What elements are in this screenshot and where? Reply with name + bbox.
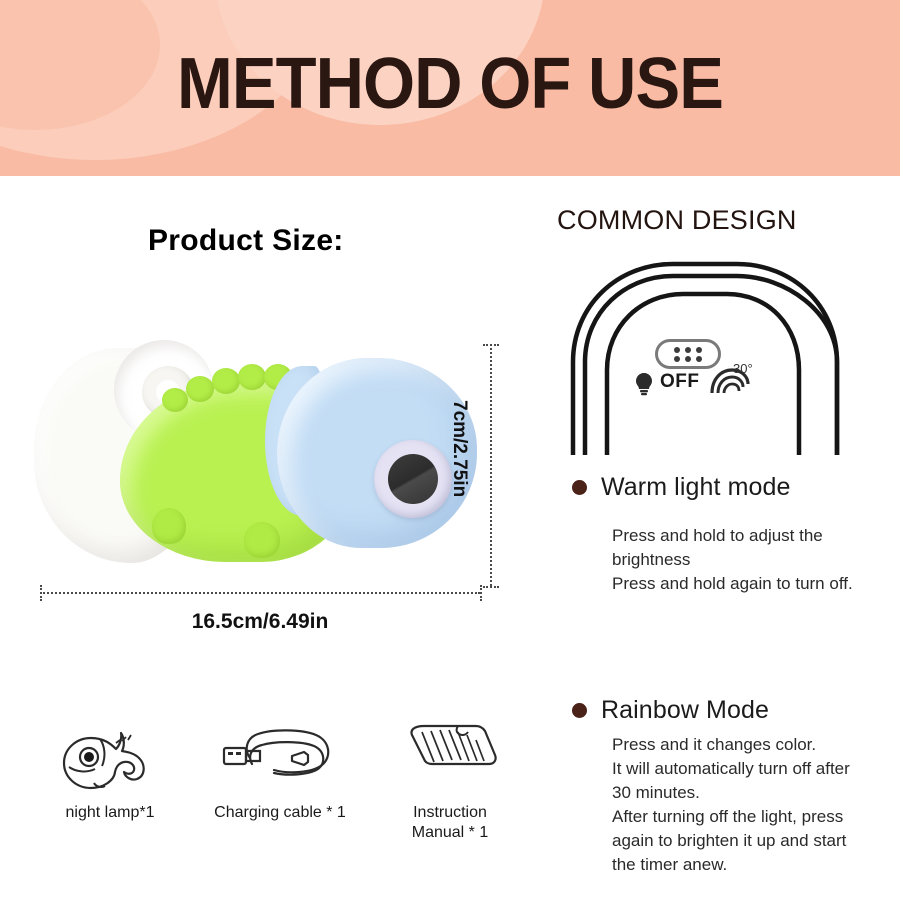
chameleon-spine-bump [238,364,266,390]
height-dimension-label: 7cm/2.75in [448,400,470,497]
common-design-heading: COMMON DESIGN [557,205,797,236]
manual-document-icon [398,715,502,795]
mode-rainbow: Rainbow Mode Press and it changes color.… [572,696,850,877]
page-header-banner: METHOD OF USE [0,0,900,176]
description-line: again to brighten it up and start [612,829,850,853]
mode-heading: Rainbow Mode [572,696,850,725]
description-line: Press and hold to adjust the [612,524,853,548]
button-dot-grid [674,347,702,362]
description-line: It will automatically turn off after [612,757,850,781]
height-guide-line [490,344,492,586]
accessory-item: Instruction Manual * 1 [365,715,535,843]
timer-degree-label: 30° [733,361,753,376]
width-guide-line [40,592,480,594]
description-line: After turning off the light, press [612,805,850,829]
chameleon-spine-bump [162,388,188,412]
chameleon-spine-bump [186,376,214,402]
mode-title: Warm light mode [601,473,791,502]
power-button[interactable] [655,339,721,369]
chameleon-lamp-icon [58,715,162,795]
description-line: Press and it changes color. [612,733,850,757]
bullet-dot-icon [572,480,587,495]
chameleon-spine-bump [212,368,240,394]
width-guide-cap-right [480,585,482,601]
mode-warm-light: Warm light mode Press and hold to adjust… [572,473,853,596]
off-label: OFF [660,371,700,393]
description-line: brightness [612,548,853,572]
accessory-item: night lamp*1 [25,715,195,823]
chameleon-foot [152,508,186,544]
bullet-dot-icon [572,703,587,718]
chameleon-head [277,358,477,548]
product-photo [22,330,492,590]
lightbulb-icon [634,372,654,401]
accessory-label: Instruction Manual * 1 [412,803,489,843]
description-line: the timer anew. [612,853,850,877]
accessories-list: night lamp*1 Charging cable * 1 Instruct… [25,715,535,855]
width-dimension-label: 16.5cm/6.49in [0,610,520,634]
accessory-item: Charging cable * 1 [195,715,365,823]
mode-description: Press and it changes color. It will auto… [612,733,850,877]
page-title: METHOD OF USE [32,46,869,122]
height-guide-cap-bottom [483,586,499,588]
mode-heading: Warm light mode [572,473,853,502]
accessory-label: night lamp*1 [66,803,155,823]
accessory-label: Charging cable * 1 [214,803,346,823]
chameleon-foot [244,522,280,558]
chameleon-eye-pupil [388,454,438,504]
description-line: Press and hold again to turn off. [612,572,853,596]
mode-description: Press and hold to adjust the brightness … [612,524,853,596]
usb-cable-icon [216,715,344,795]
description-line: 30 minutes. [612,781,850,805]
product-size-label: Product Size: [148,224,344,258]
mode-title: Rainbow Mode [601,696,769,725]
